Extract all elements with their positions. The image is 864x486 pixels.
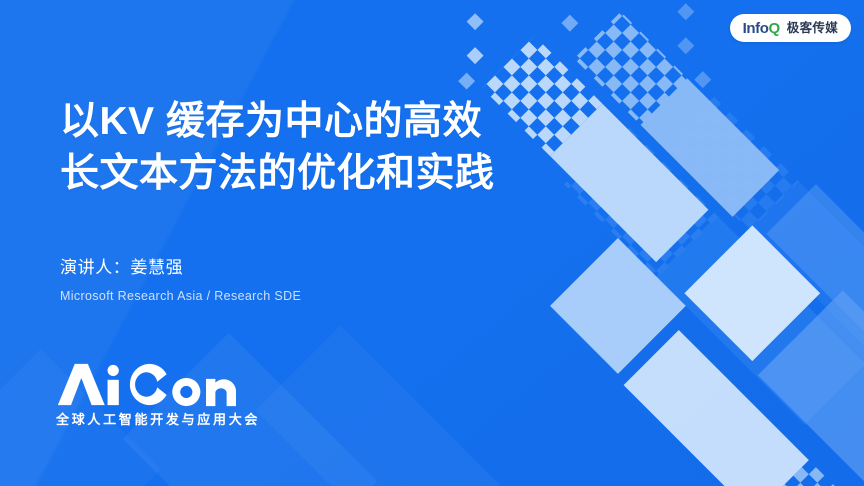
infoq-wordmark-info: Info: [743, 20, 769, 37]
infoq-wordmark: InfoQ: [743, 21, 780, 36]
slide-title-line-2: 长文本方法的优化和实践: [60, 148, 620, 200]
aicon-wordmark: [56, 362, 240, 407]
slide-title: 以KV 缓存为中心的高效 长文本方法的优化和实践: [60, 96, 620, 200]
slide-canvas: InfoQ 极客传媒 以KV 缓存为中心的高效 长文本方法的优化和实践 演讲人：…: [0, 0, 864, 486]
speaker-block: 演讲人：姜慧强 Microsoft Research Asia / Resear…: [60, 255, 301, 305]
slide-title-line-1: 以KV 缓存为中心的高效: [60, 96, 620, 148]
aicon-tagline: 全球人工智能开发与应用大会: [56, 412, 260, 428]
speaker-affiliation: Microsoft Research Asia / Research SDE: [60, 288, 301, 306]
decorative-mosaic-graphic: [444, 0, 864, 486]
background-slab: [256, 326, 525, 486]
infoq-wordmark-q: Q: [769, 20, 780, 37]
infoq-wordmark-chinese: 极客传媒: [787, 22, 838, 35]
speaker-name: 演讲人：姜慧强: [60, 255, 301, 281]
aicon-conference-logo: 全球人工智能开发与应用大会: [56, 362, 260, 428]
infoq-brand-pill: InfoQ 极客传媒: [730, 14, 851, 42]
